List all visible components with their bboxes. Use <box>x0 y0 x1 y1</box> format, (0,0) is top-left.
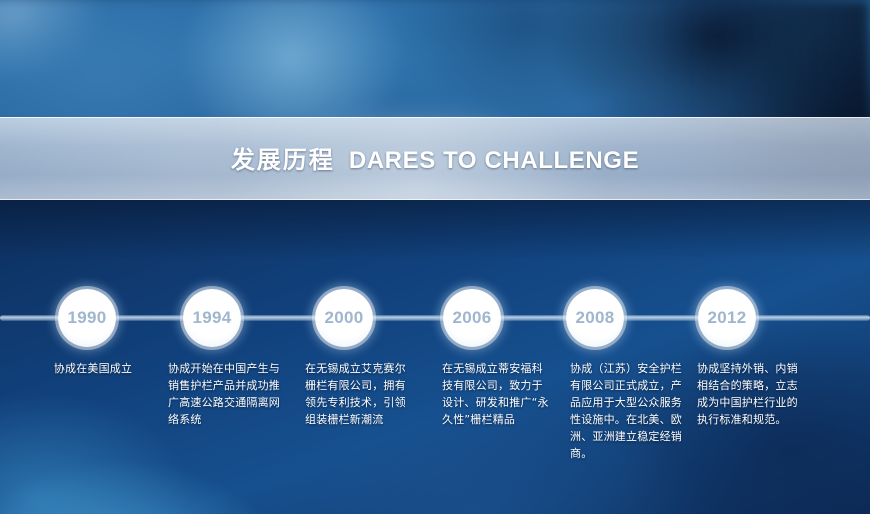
timeline-description-1994: 协成开始在中国产生与销售护栏产品并成功推广高速公路交通隔离网络系统 <box>168 360 280 428</box>
timeline-description-2012: 协成坚持外销、内销相结合的策略，立志成为中国护栏行业的执行标准和规范。 <box>697 360 807 428</box>
timeline-node-year: 2006 <box>452 308 491 328</box>
timeline-node-2000[interactable]: 2000 <box>315 289 373 347</box>
timeline-node-1994[interactable]: 1994 <box>183 289 241 347</box>
timeline-description-2006: 在无锡成立蒂安福科技有限公司，致力于设计、研发和推广“永久性”栅栏精品 <box>442 360 552 428</box>
timeline-node-year: 2008 <box>575 308 614 328</box>
page-title-chinese: 发展历程 <box>231 146 335 174</box>
page-title-english: DARES TO CHALLENGE <box>349 147 639 174</box>
timeline-node-2006[interactable]: 2006 <box>443 289 501 347</box>
timeline-node-year: 2012 <box>707 308 746 328</box>
timeline-description-2008: 协成（江苏）安全护栏有限公司正式成立，产品应用于大型公众服务性设施中。在北美、欧… <box>570 360 682 462</box>
timeline-description-2000: 在无锡成立艾克赛尔栅栏有限公司，拥有领先专利技术，引领组装栅栏新潮流 <box>305 360 413 428</box>
page-title: 发展历程DARES TO CHALLENGE <box>0 140 870 175</box>
timeline-description-1990: 协成在美国成立 <box>38 360 148 377</box>
timeline-node-year: 1990 <box>67 308 106 328</box>
timeline-node-2012[interactable]: 2012 <box>698 289 756 347</box>
timeline-node-year: 2000 <box>324 308 363 328</box>
timeline-node-1990[interactable]: 1990 <box>58 289 116 347</box>
timeline-node-2008[interactable]: 2008 <box>566 289 624 347</box>
timeline-panel-top-shade <box>0 200 870 260</box>
slide-canvas: 发展历程DARES TO CHALLENGE 19901994200020062… <box>0 0 870 514</box>
timeline-node-year: 1994 <box>192 308 231 328</box>
title-banner-top-rule <box>0 117 870 118</box>
